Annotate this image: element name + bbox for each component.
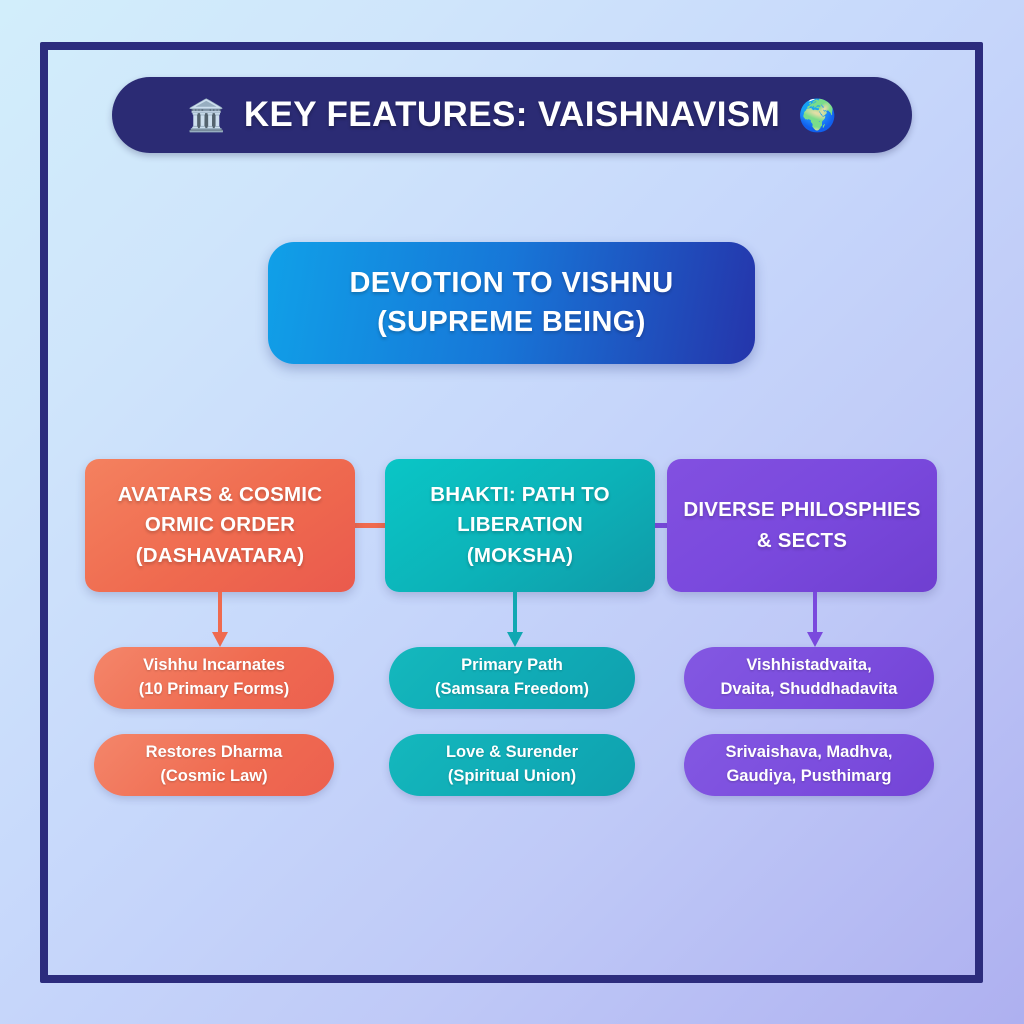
list-item-bhakti-1[interactable]: Primary Path (Samsara Freedom) — [389, 647, 635, 709]
list-item-line-1: Vishhu Incarnates — [143, 654, 285, 678]
arrow-stem — [513, 592, 517, 636]
list-item-philosophies-1[interactable]: Vishhistadvaita, Dvaita, Shuddhadavita — [684, 647, 934, 709]
arrow-down-bhakti-icon — [500, 592, 530, 652]
branch-philosophies-line-1: DIVERSE PHILOSPHIES — [683, 495, 920, 525]
list-item-line-1: Restores Dharma — [146, 741, 283, 765]
list-item-avatars-1[interactable]: Vishhu Incarnates (10 Primary Forms) — [94, 647, 334, 709]
title-banner: 🏛️ KEY FEATURES: VAISHNAVISM 🌍 — [112, 77, 912, 153]
branch-bhakti-line-2: LIBERATION — [457, 510, 583, 540]
list-item-line-1: Primary Path — [461, 654, 563, 678]
list-item-line-2: (Samsara Freedom) — [435, 678, 589, 702]
branch-bhakti-line-3: (MOKSHA) — [467, 541, 573, 571]
arrow-down-avatars-icon — [205, 592, 235, 652]
infographic-canvas: 🏛️ KEY FEATURES: VAISHNAVISM 🌍 DEVOTION … — [0, 0, 1024, 1024]
list-item-line-2: (Spiritual Union) — [448, 765, 576, 789]
list-item-line-2: (10 Primary Forms) — [139, 678, 289, 702]
arrow-stem — [218, 592, 222, 636]
list-item-line-1: Srivaishava, Madhva, — [726, 741, 893, 765]
branch-philosophies[interactable]: DIVERSE PHILOSPHIES & SECTS — [667, 459, 937, 592]
branch-philosophies-line-2: & SECTS — [757, 526, 847, 556]
main-node-line-1: DEVOTION TO VISHNU — [349, 264, 673, 303]
list-item-line-2: (Cosmic Law) — [160, 765, 267, 789]
arrow-head — [507, 632, 523, 647]
arrow-stem — [813, 592, 817, 636]
page-title: KEY FEATURES: VAISHNAVISM — [244, 95, 780, 135]
branch-avatars-line-2: ORMIC ORDER — [145, 510, 295, 540]
list-item-line-2: Gaudiya, Pusthimarg — [726, 765, 891, 789]
main-node-devotion-to-vishnu[interactable]: DEVOTION TO VISHNU (SUPREME BEING) — [268, 242, 755, 364]
list-item-bhakti-2[interactable]: Love & Surender (Spiritual Union) — [389, 734, 635, 796]
branch-avatars[interactable]: AVATARS & COSMIC ORMIC ORDER (DASHAVATAR… — [85, 459, 355, 592]
branch-avatars-line-3: (DASHAVATARA) — [136, 541, 304, 571]
main-node-line-2: (SUPREME BEING) — [377, 303, 646, 342]
branch-avatars-line-1: AVATARS & COSMIC — [118, 480, 322, 510]
arrow-head — [212, 632, 228, 647]
arrow-down-philosophies-icon — [800, 592, 830, 652]
branch-bhakti-line-1: BHAKTI: PATH TO — [430, 480, 610, 510]
temple-icon: 🏛️ — [187, 100, 226, 131]
list-item-philosophies-2[interactable]: Srivaishava, Madhva, Gaudiya, Pusthimarg — [684, 734, 934, 796]
connector-avatars-to-bhakti — [352, 523, 388, 528]
list-item-line-1: Love & Surender — [446, 741, 578, 765]
list-item-avatars-2[interactable]: Restores Dharma (Cosmic Law) — [94, 734, 334, 796]
list-item-line-2: Dvaita, Shuddhadavita — [721, 678, 898, 702]
globe-icon: 🌍 — [798, 100, 837, 131]
list-item-line-1: Vishhistadvaita, — [746, 654, 871, 678]
arrow-head — [807, 632, 823, 647]
branch-bhakti[interactable]: BHAKTI: PATH TO LIBERATION (MOKSHA) — [385, 459, 655, 592]
